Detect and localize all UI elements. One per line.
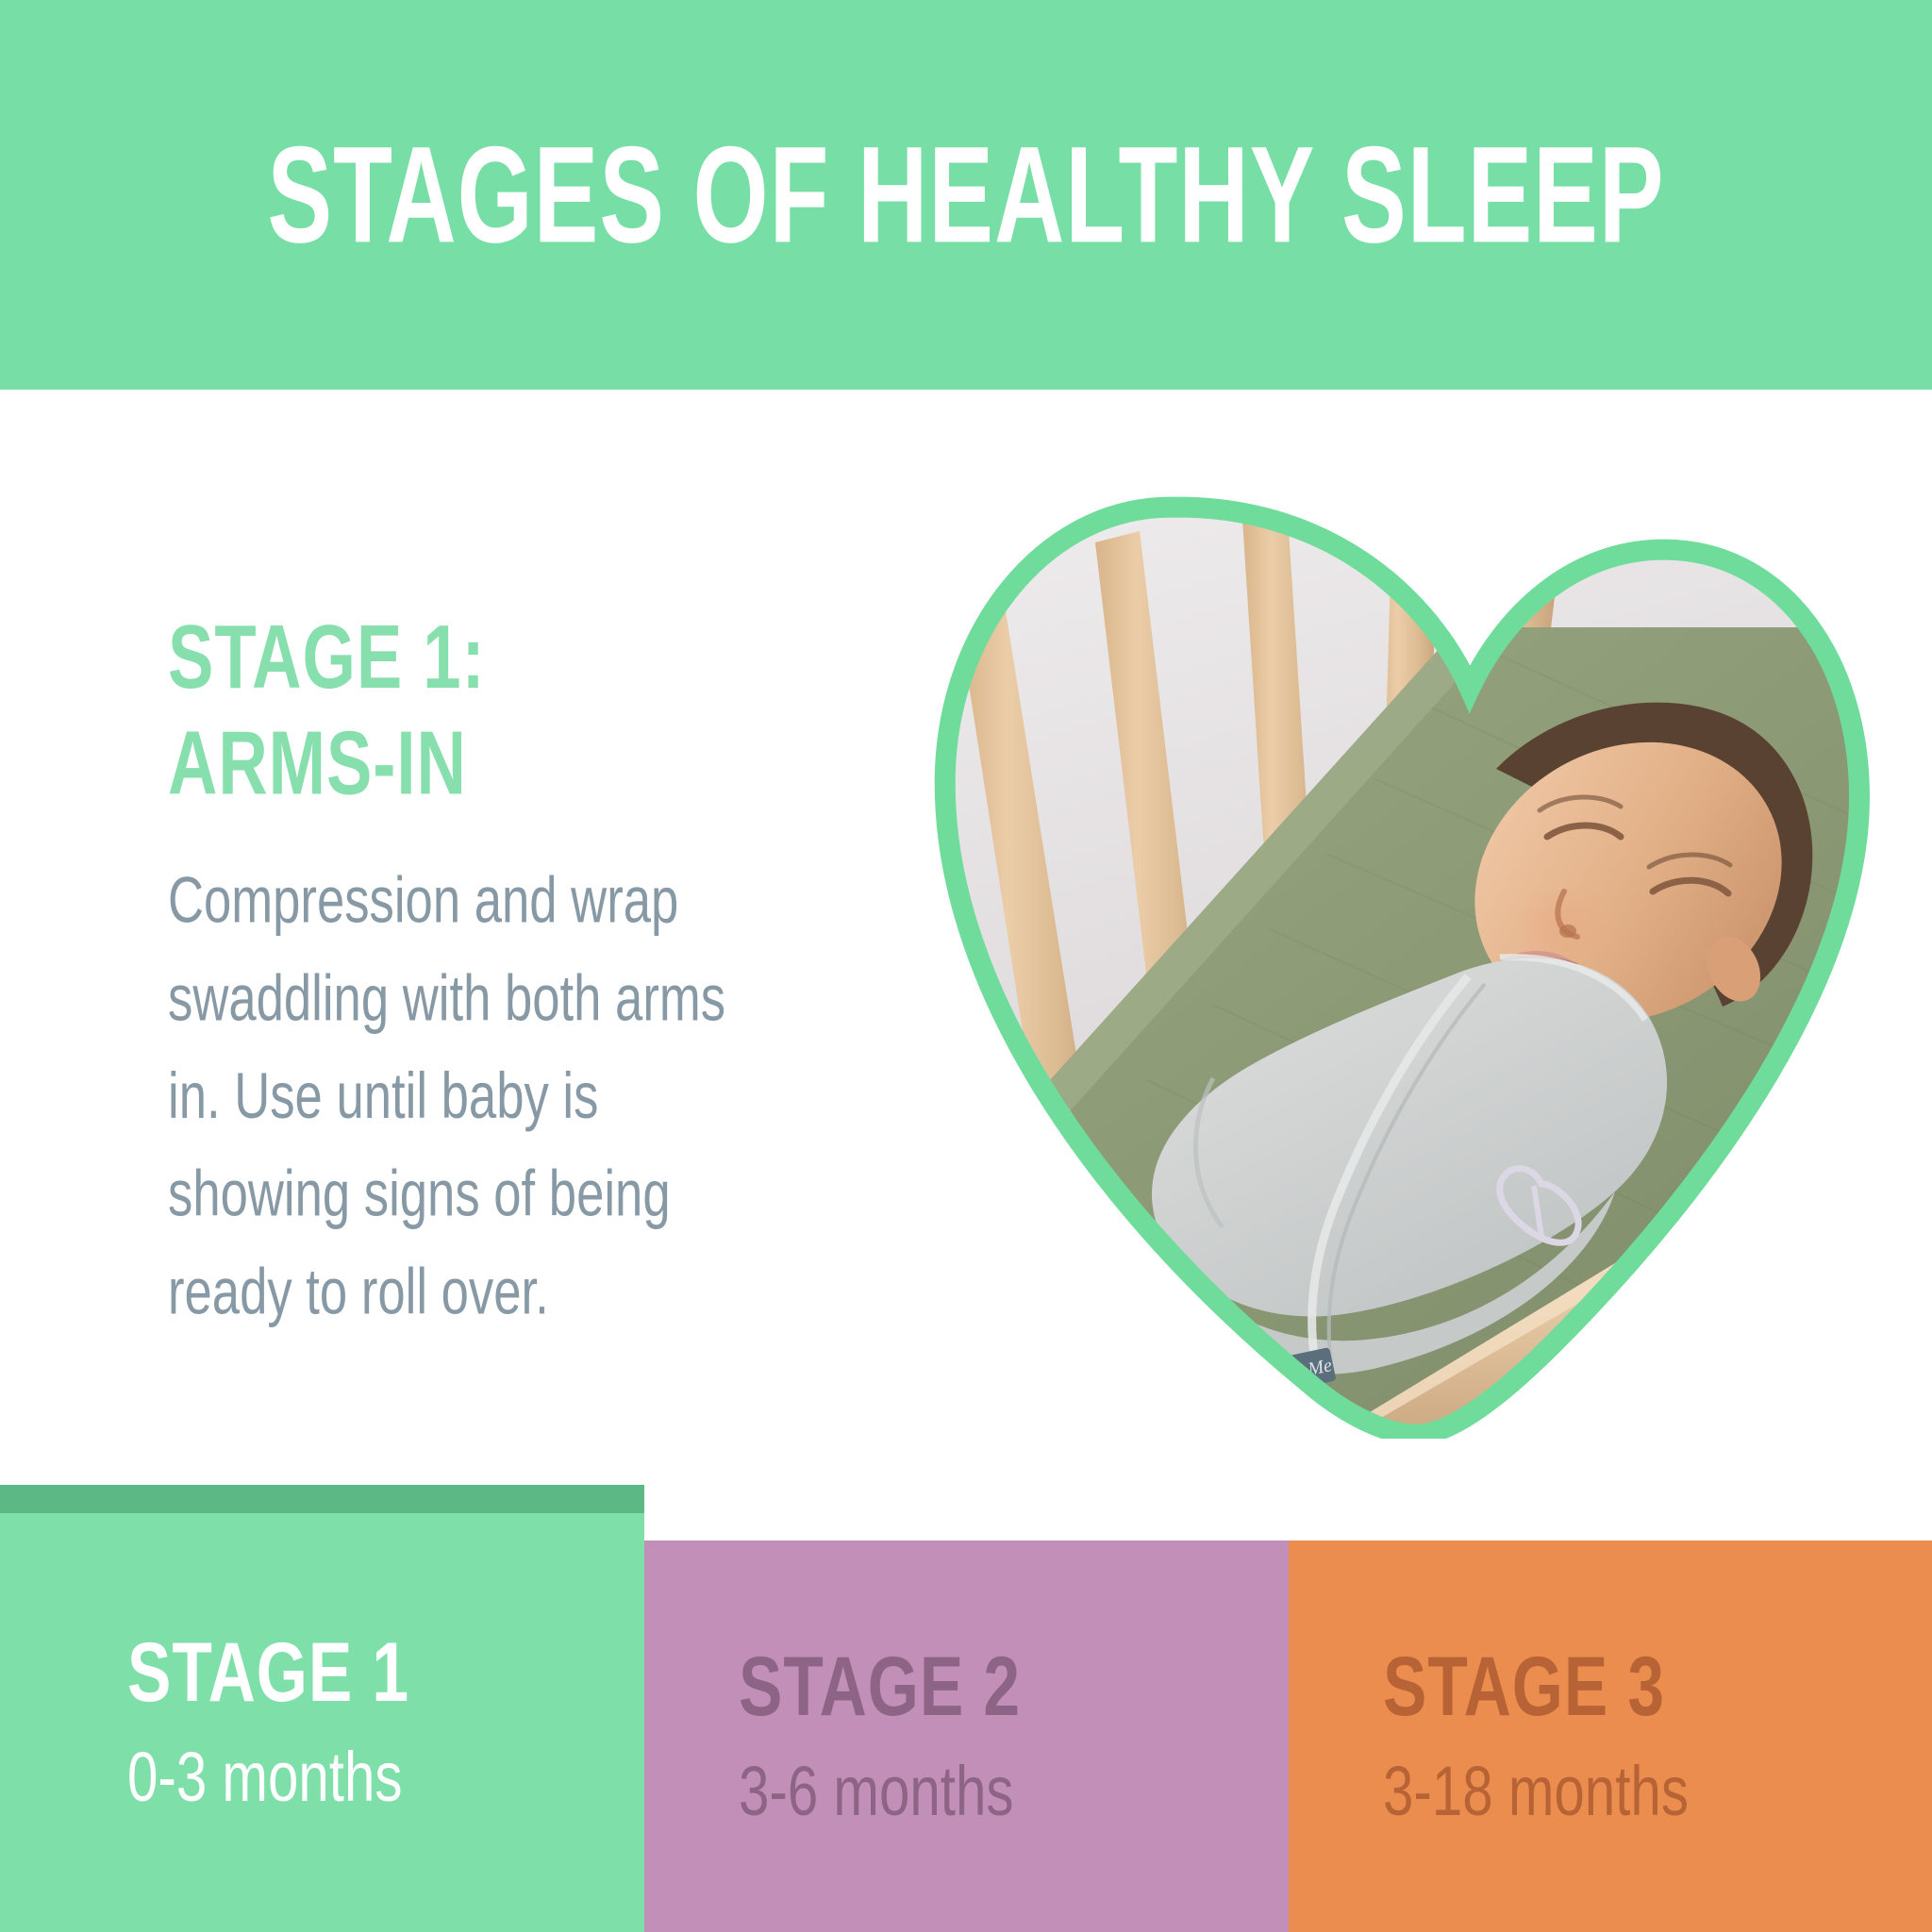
stage-body-text: Compression and wrap swaddling with both… — [168, 851, 753, 1341]
page-title: STAGES OF HEALTHY SLEEP — [267, 126, 1664, 264]
stage-tab-3-subtitle: 3-18 months — [1383, 1757, 1899, 1826]
stage-tab-2[interactable]: STAGE 2 3-6 months — [644, 1541, 1289, 1932]
heart-photo: SwaddleMe — [930, 486, 1874, 1439]
stage-tab-3[interactable]: STAGE 3 3-18 months — [1289, 1541, 1932, 1932]
stage-heading: STAGE 1: ARMS-IN — [168, 604, 835, 816]
stage-tab-1-subtitle: 0-3 months — [127, 1742, 613, 1812]
photo-content: SwaddleMe — [930, 486, 1874, 1439]
stage-tab-1[interactable]: STAGE 1 0-3 months — [0, 1512, 644, 1932]
stage-tab-2-subtitle: 3-6 months — [739, 1757, 1256, 1826]
stage-description-block: STAGE 1: ARMS-IN Compression and wrap sw… — [168, 604, 885, 1253]
stage-tab-1-title: STAGE 1 — [127, 1630, 613, 1714]
stage-tab-3-title: STAGE 3 — [1383, 1644, 1899, 1728]
infographic-page: STAGES OF HEALTHY SLEEP STAGE 1: ARMS-IN… — [0, 0, 1932, 1932]
header-banner: STAGES OF HEALTHY SLEEP — [0, 0, 1932, 390]
stage-bar: STAGE 1 0-3 months STAGE 2 3-6 months ST… — [0, 1509, 1932, 1932]
stage-tab-2-title: STAGE 2 — [739, 1644, 1256, 1728]
stage-tab-1-active-cap — [0, 1485, 644, 1513]
